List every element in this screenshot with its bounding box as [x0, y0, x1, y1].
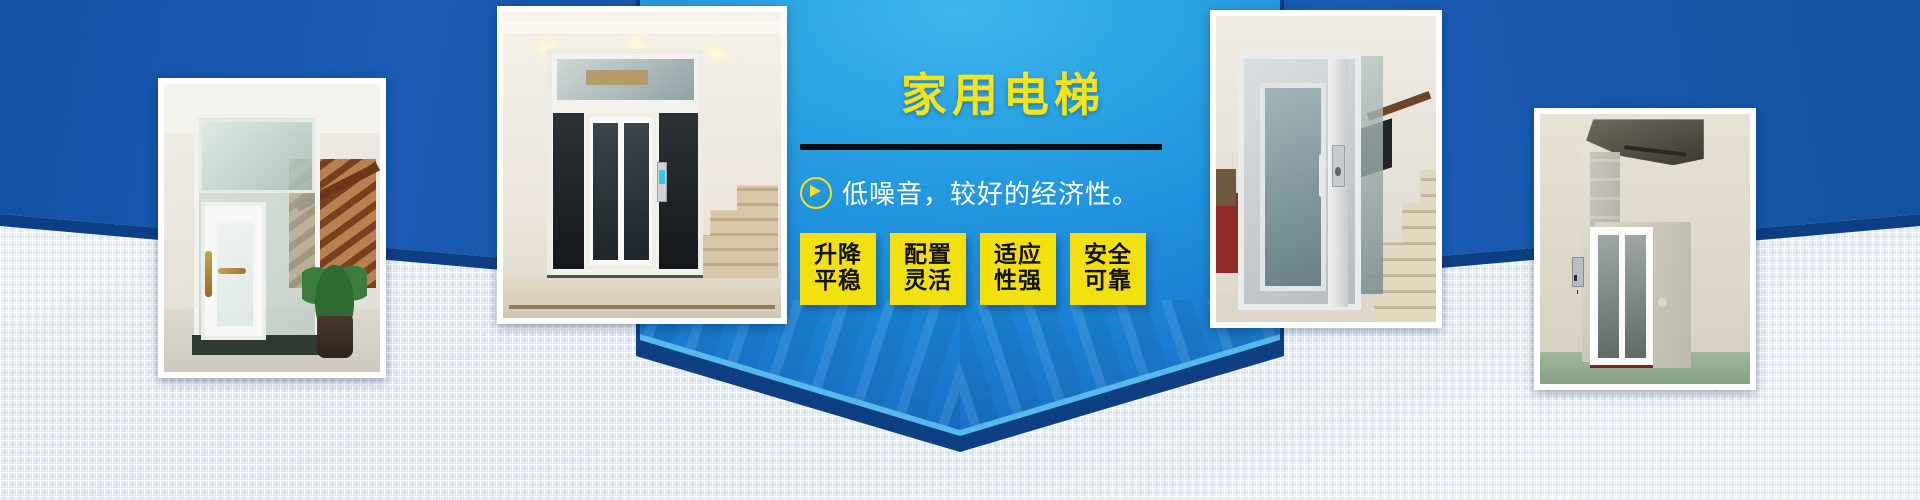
badge-line-1: 安全: [1084, 243, 1132, 269]
photo-1-scene: [164, 84, 380, 372]
floor-inlay-line: [509, 305, 776, 309]
cardboard-box: [1216, 169, 1236, 206]
door-handle: [1319, 154, 1324, 197]
badge-line-2: 可靠: [1084, 269, 1132, 295]
door-pull-bar: [218, 268, 246, 274]
photo-glass-home-elevator[interactable]: [158, 78, 386, 378]
shaft-interior-left: [553, 113, 584, 269]
glass-cabin-door: [1260, 83, 1326, 291]
badge-line-2: 平稳: [814, 269, 862, 295]
plant-leaves: [302, 240, 367, 323]
title-divider: [800, 144, 1162, 150]
photo-4-scene: [1540, 114, 1750, 384]
badge-line-1: 配置: [904, 243, 952, 269]
photo-2-scene: [503, 12, 781, 318]
banner-text-block: 家用电梯 低噪音，较好的经济性。 升降 平稳 配置 灵活 适应 性强 安全 可靠: [800, 72, 1200, 305]
subtitle-text: 低噪音，较好的经济性。: [842, 174, 1139, 211]
home-elevator-banner: 家用电梯 低噪音，较好的经济性。 升降 平稳 配置 灵活 适应 性强 安全 可靠: [0, 0, 1920, 500]
feature-badge[interactable]: 适应 性强: [980, 233, 1056, 305]
cabin-doors: [1590, 227, 1653, 365]
marble-floor: [503, 278, 781, 318]
control-panel: [1332, 145, 1345, 188]
badge-line-1: 适应: [994, 243, 1042, 269]
upper-glass-panel: [199, 119, 316, 194]
page-title: 家用电梯: [806, 72, 1200, 118]
feature-badge[interactable]: 安全 可靠: [1070, 233, 1146, 305]
photo-elevator-under-installation[interactable]: [1534, 108, 1756, 390]
badge-line-2: 性强: [994, 269, 1042, 295]
subtitle-row: 低噪音，较好的经济性。: [800, 174, 1200, 211]
feature-badge-list: 升降 平稳 配置 灵活 适应 性强 安全 可靠: [800, 233, 1200, 305]
photo-steel-glass-elevator[interactable]: [1210, 10, 1442, 328]
circled-play-arrow-icon: [800, 177, 832, 209]
feature-badge[interactable]: 升降 平稳: [800, 233, 876, 305]
ceiling-light: [709, 49, 727, 58]
photo-white-sliding-door-elevator[interactable]: [497, 6, 787, 324]
badge-line-2: 灵活: [904, 269, 952, 295]
sliding-doors: [586, 113, 656, 269]
photo-3-scene: [1216, 16, 1436, 322]
door-handle: [205, 251, 212, 297]
plant-pot: [317, 316, 353, 357]
badge-line-1: 升降: [814, 243, 862, 269]
feature-badge[interactable]: 配置 灵活: [890, 233, 966, 305]
wall-control-box: [1572, 257, 1585, 287]
potted-plant: [302, 242, 367, 357]
machine-box: [586, 70, 647, 85]
crown-molding: [503, 21, 781, 33]
call-panel-display: [657, 162, 667, 202]
